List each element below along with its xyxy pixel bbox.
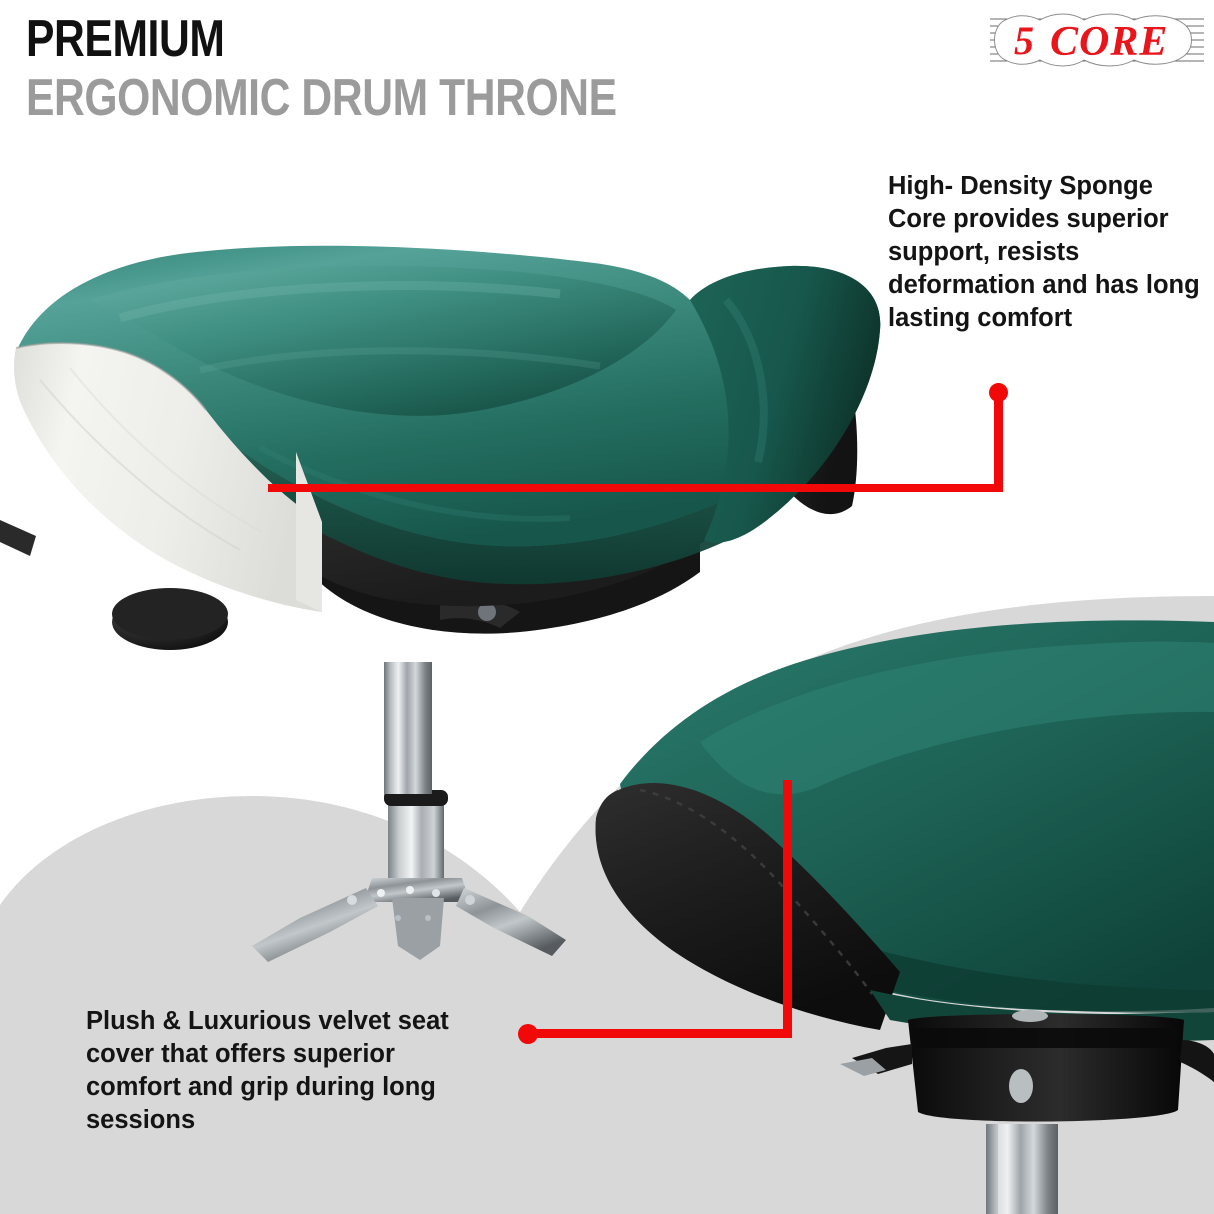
brand-logo-5core: 5 5 CORE CORE — [988, 10, 1206, 70]
connector-horizontal-bottom — [528, 1029, 792, 1038]
page-title: PREMIUM ERGONOMIC DRUM THRONE — [26, 12, 746, 126]
main-seat — [0, 246, 880, 650]
infographic-canvas: PREMIUM ERGONOMIC DRUM THRONE 5 5 CORE C… — [0, 0, 1214, 1214]
connector-vertical-top — [994, 392, 1003, 490]
connector-horizontal-top — [268, 484, 1003, 492]
title-line-product: ERGONOMIC DRUM THRONE — [26, 70, 617, 126]
title-line-premium: PREMIUM — [26, 12, 617, 66]
logo-number: 5 — [1014, 18, 1034, 63]
callout-text-sponge-core: High- Density Sponge Core provides super… — [888, 170, 1204, 335]
callout-text-velvet-cover: Plush & Luxurious velvet seat cover that… — [86, 1005, 486, 1137]
connector-vertical-bottom — [783, 780, 792, 1033]
logo-icon: 5 5 CORE CORE — [988, 10, 1206, 70]
logo-word: CORE — [1050, 19, 1168, 65]
